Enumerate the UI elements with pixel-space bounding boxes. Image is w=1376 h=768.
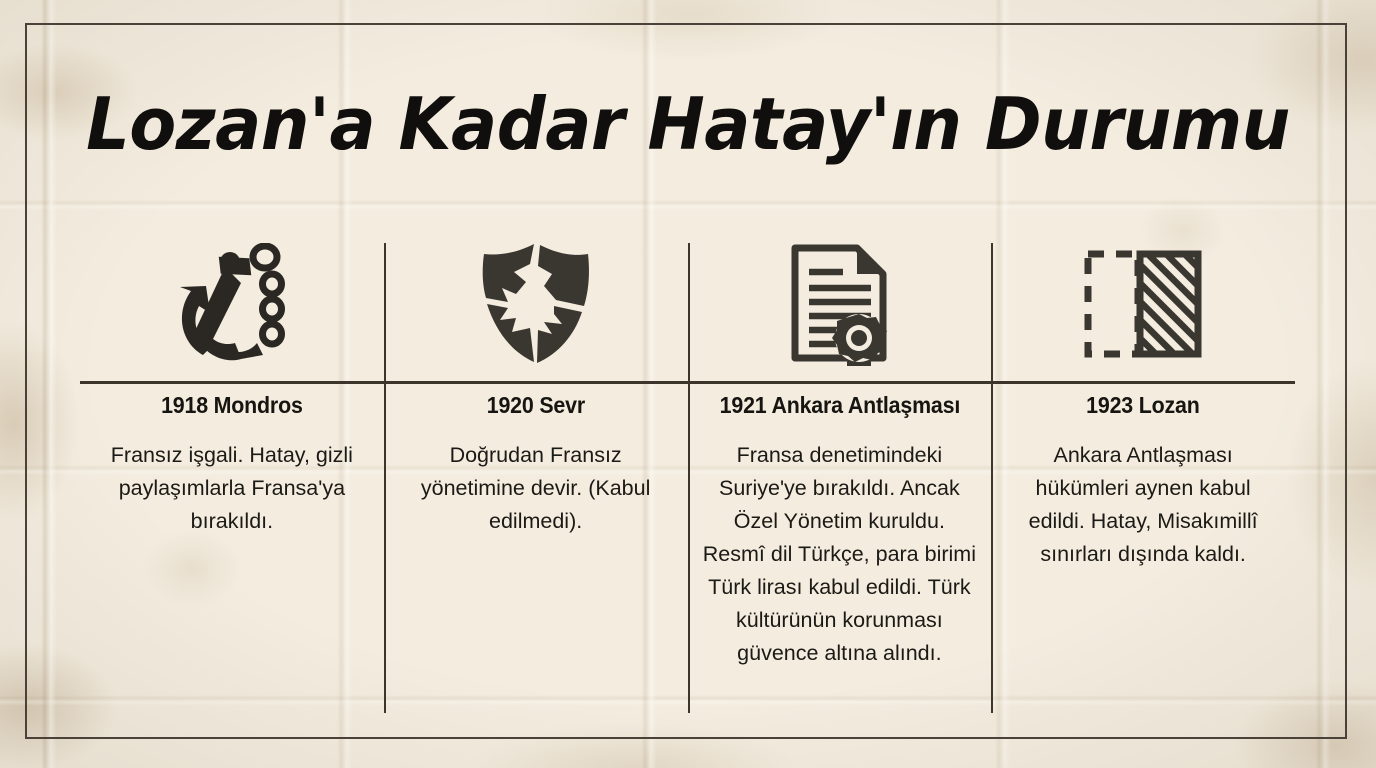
column-heading: 1920 Sevr <box>407 392 663 419</box>
column-body-text: Fransa denetimindeki Suriye'ye bırakıldı… <box>702 439 978 670</box>
column-body-text: Fransız işgali. Hatay, gizli paylaşımlar… <box>94 439 370 538</box>
column-body-text: Ankara Antlaşması hükümleri aynen kabul … <box>1005 439 1281 571</box>
broken-shield-icon <box>398 238 674 370</box>
timeline-column-1918: 1918 Mondros Fransız işgali. Hatay, gizl… <box>80 238 384 670</box>
divided-territory-icon <box>1005 238 1281 370</box>
timeline-column-1921: 1921 Ankara Antlaşması Fransa denetimind… <box>688 238 992 670</box>
column-heading: 1923 Lozan <box>1015 392 1271 419</box>
certificate-seal-icon <box>702 238 978 370</box>
column-heading: 1921 Ankara Antlaşması <box>711 392 967 419</box>
timeline-columns: 1918 Mondros Fransız işgali. Hatay, gizl… <box>80 238 1295 670</box>
page-title: Lozan'a Kadar Hatay'ın Durumu <box>34 82 1341 166</box>
timeline-column-1920: 1920 Sevr Doğrudan Fransız yönetimine de… <box>384 238 688 670</box>
anchor-chain-icon <box>94 238 370 370</box>
column-body-text: Doğrudan Fransız yönetimine devir. (Kabu… <box>398 439 674 538</box>
slide-root: Lozan'a Kadar Hatay'ın Durumu <box>0 0 1376 768</box>
column-heading: 1918 Mondros <box>104 392 360 419</box>
timeline-column-1923: 1923 Lozan Ankara Antlaşması hükümleri a… <box>991 238 1295 670</box>
